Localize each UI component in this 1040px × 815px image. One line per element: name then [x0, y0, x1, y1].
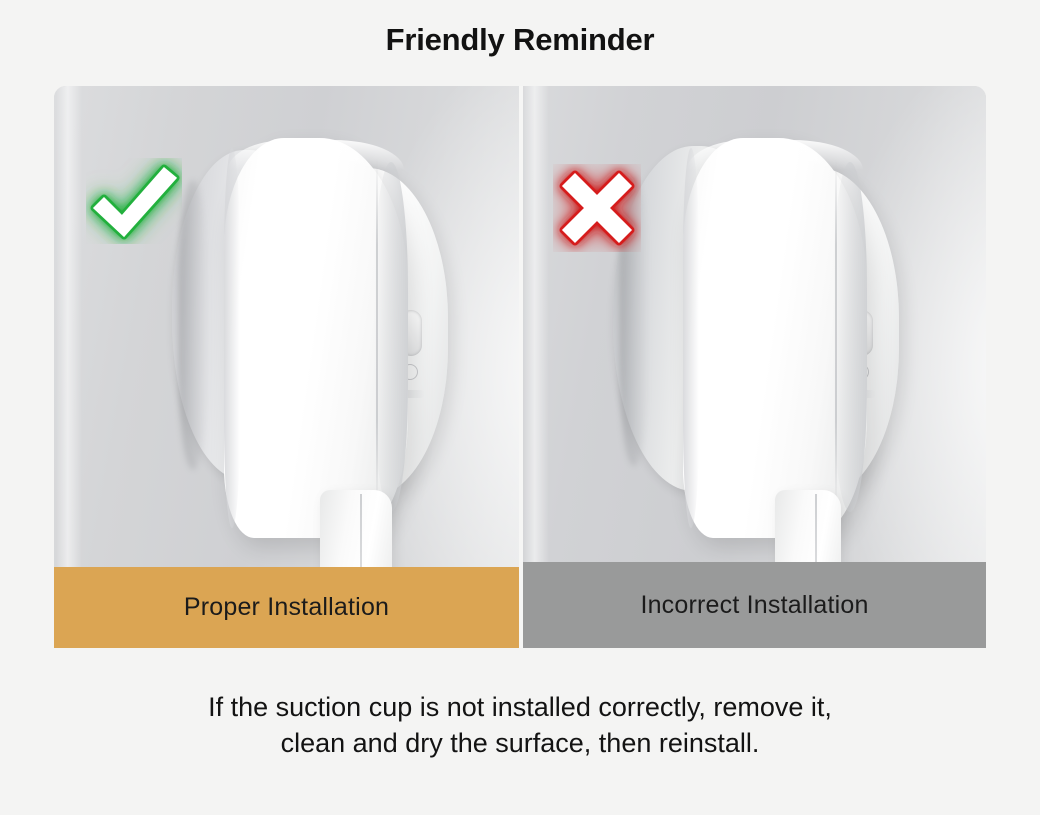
caption-label-incorrect: Incorrect Installation — [640, 591, 868, 620]
band-proper-installation: Proper Installation — [54, 567, 519, 648]
band-incorrect-installation: Incorrect Installation — [523, 562, 986, 648]
shell-seam-line — [376, 158, 378, 510]
footer-caption-line-2: clean and dry the surface, then reinstal… — [120, 726, 920, 762]
shell-left-edge — [683, 148, 699, 528]
shell-left-edge — [224, 148, 240, 528]
panel-proper-installation[interactable]: Proper Installation — [54, 86, 519, 648]
panel-incorrect-installation[interactable]: Incorrect Installation — [523, 86, 986, 648]
footer-caption: If the suction cup is not installed corr… — [120, 690, 920, 762]
comparison-panel: Proper Installation — [54, 86, 986, 648]
shell-seam-line — [835, 158, 837, 510]
wall-seam — [56, 86, 82, 648]
page-title: Friendly Reminder — [0, 22, 1040, 58]
caption-label-proper: Proper Installation — [184, 593, 389, 622]
suction-cup-shadow — [178, 180, 208, 470]
green-check-icon — [86, 158, 182, 248]
footer-caption-line-1: If the suction cup is not installed corr… — [120, 690, 920, 726]
shell-right-edge — [833, 162, 867, 512]
shell-right-edge — [374, 162, 408, 512]
shower-head-front-shell — [224, 138, 408, 538]
red-cross-icon — [553, 164, 641, 256]
shower-head-front-shell — [683, 138, 867, 538]
